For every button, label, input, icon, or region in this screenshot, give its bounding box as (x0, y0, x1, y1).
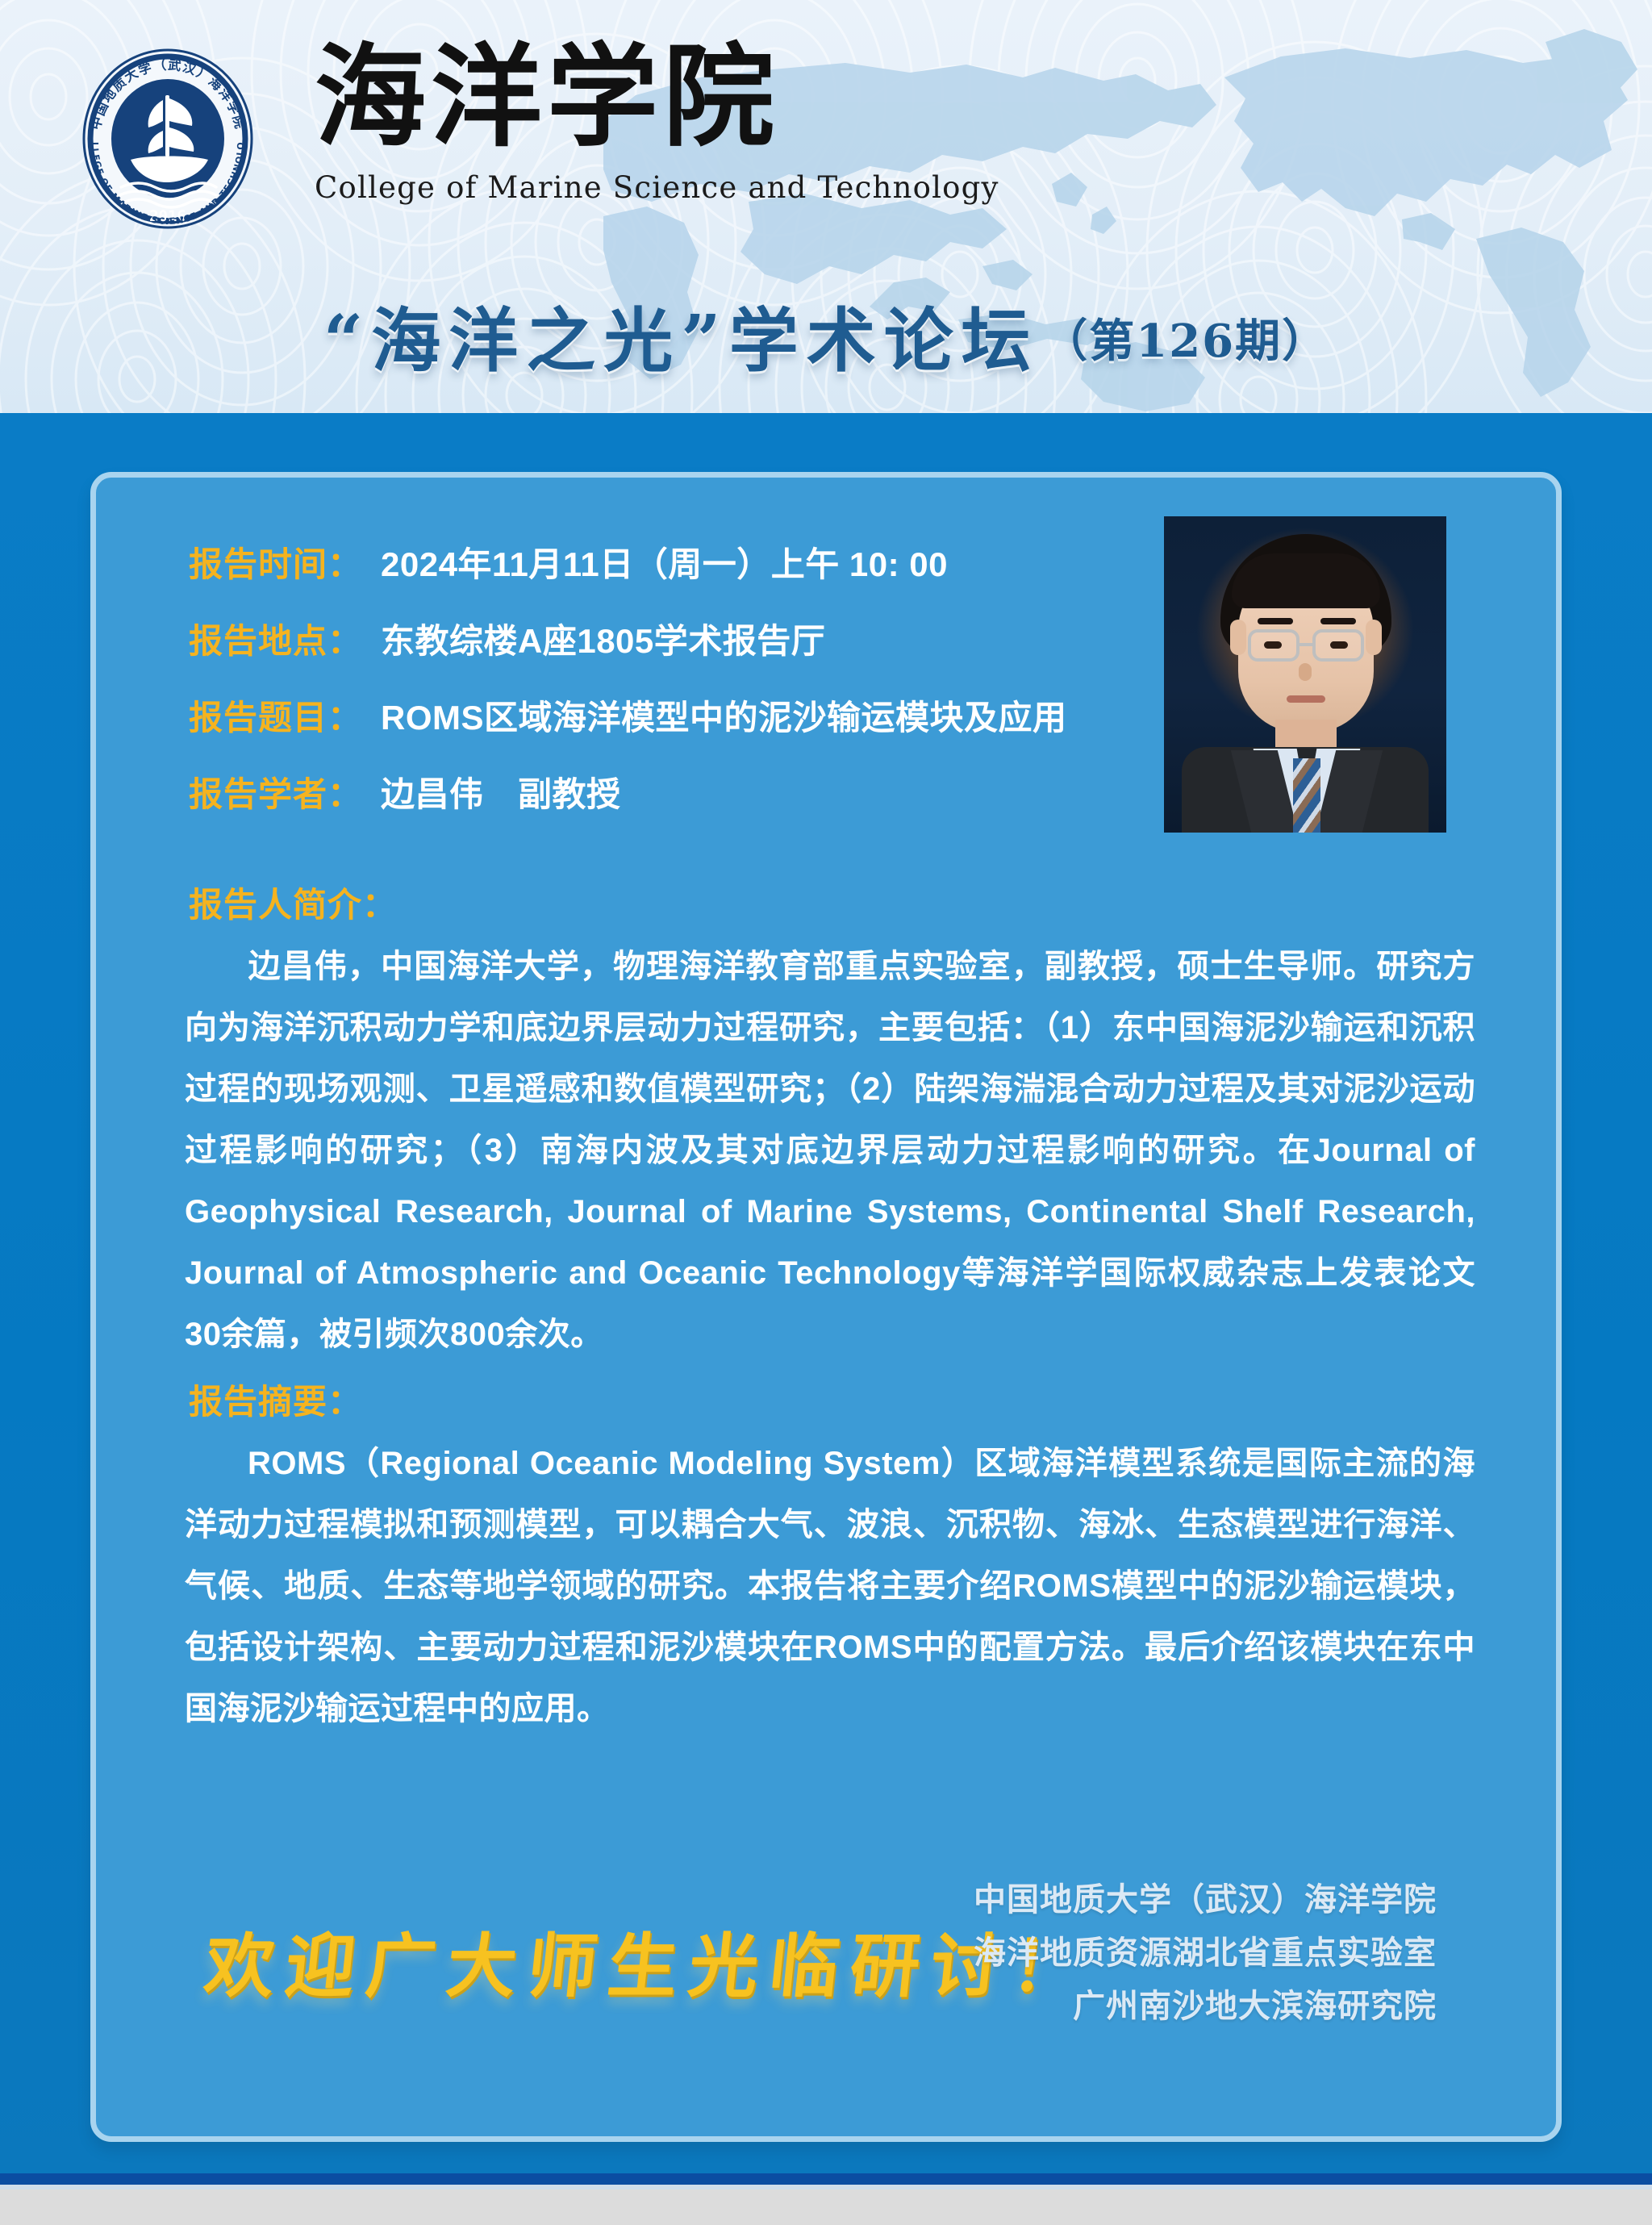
abstract-text: ROMS（Regional Oceanic Modeling System）区域… (185, 1433, 1475, 1739)
brand-name-cn: 海洋学院 (315, 39, 831, 156)
speaker-portrait (1164, 516, 1446, 833)
info-row-speaker: 报告学者： 边昌伟 副教授 (189, 767, 1100, 816)
info-label-time: 报告时间： (189, 537, 381, 587)
forum-title-issue: （第126期） (1042, 315, 1329, 368)
poster-header: 2016 中国地质大学（武汉）海洋学院 COLLEGE OF MARINE SC… (0, 0, 1652, 413)
brand-block: 海洋学院 College of Marine Science and Techn… (315, 39, 831, 205)
abstract-paragraph: ROMS（Regional Oceanic Modeling System）区域… (185, 1446, 1475, 1726)
forum-title-main: “海洋之光”学术论坛 (323, 300, 1039, 382)
bottom-gray-strip (0, 2190, 1652, 2225)
abstract-heading: 报告摘要： (189, 1375, 362, 1424)
info-value-speaker: 边昌伟 副教授 (381, 767, 621, 816)
organizer-line-2: 海洋地质资源湖北省重点实验室 (974, 1927, 1437, 1980)
brand-name-en: College of Marine Science and Technology (315, 170, 831, 205)
bio-heading: 报告人简介： (189, 878, 397, 927)
event-info-list: 报告时间： 2024年11月11日（周一）上午 10: 00 报告地点： 东教综… (189, 537, 1100, 844)
info-label-venue: 报告地点： (189, 614, 381, 663)
info-label-speaker: 报告学者： (189, 767, 381, 816)
bio-paragraph: 边昌伟，中国海洋大学，物理海洋教育部重点实验室，副教授，硕士生导师。研究方向为海… (185, 949, 1475, 1352)
organizer-line-1: 中国地质大学（武汉）海洋学院 (974, 1873, 1437, 1927)
info-row-topic: 报告题目： ROMS区域海洋模型中的泥沙输运模块及应用 (189, 691, 1100, 740)
info-row-venue: 报告地点： 东教综楼A座1805学术报告厅 (189, 614, 1100, 663)
content-panel: 报告时间： 2024年11月11日（周一）上午 10: 00 报告地点： 东教综… (90, 472, 1562, 2142)
info-row-time: 报告时间： 2024年11月11日（周一）上午 10: 00 (189, 537, 1100, 587)
organizer-line-3: 广州南沙地大滨海研究院 (974, 1980, 1437, 2033)
info-value-venue: 东教综楼A座1805学术报告厅 (381, 614, 825, 663)
info-value-topic: ROMS区域海洋模型中的泥沙输运模块及应用 (381, 691, 1067, 740)
college-seal-logo: 2016 中国地质大学（武汉）海洋学院 COLLEGE OF MARINE SC… (71, 37, 265, 239)
bottom-navy-bar (0, 2173, 1652, 2185)
forum-title: “海洋之光”学术论坛 （第126期） (0, 284, 1652, 385)
info-label-topic: 报告题目： (189, 691, 381, 740)
welcome-message: 欢迎广大师生光临研讨！ (200, 1910, 1098, 2010)
poster-root: 2016 中国地质大学（武汉）海洋学院 COLLEGE OF MARINE SC… (0, 0, 1652, 2225)
organizer-list: 中国地质大学（武汉）海洋学院 海洋地质资源湖北省重点实验室 广州南沙地大滨海研究… (974, 1873, 1437, 2033)
info-value-time: 2024年11月11日（周一）上午 10: 00 (381, 537, 948, 587)
bio-text: 边昌伟，中国海洋大学，物理海洋教育部重点实验室，副教授，硕士生导师。研究方向为海… (185, 936, 1475, 1365)
